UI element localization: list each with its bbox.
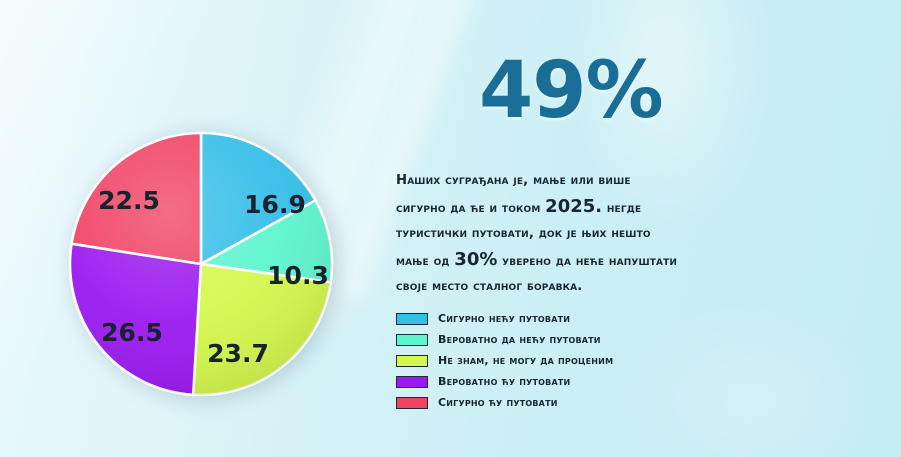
legend-label-initial: Н [438,354,447,367]
legend-item[interactable]: Сигурно нећу путовати [396,308,726,329]
legend-label-rest: е знам, не могу да проценим [447,354,613,367]
legend-item-label: Вероватно да нећу путовати [438,333,601,346]
paragraph-line3: туристички путовати, док је њих нешто [396,226,651,241]
pie-slice-value-label: 23.7 [207,339,269,368]
paragraph-year-highlight: 2025. [545,196,602,217]
pie-chart-svg: 16.910.323.726.522.5 [56,118,346,418]
legend-color-swatch [396,334,428,346]
legend-item[interactable]: Не знам, не могу да проценим [396,350,726,371]
paragraph-line1-initial: Н [396,173,407,188]
legend-item-label: Сигурно нећу путовати [438,312,570,325]
paragraph-line4a: мање од [396,254,454,269]
legend-color-swatch [396,376,428,388]
paragraph-percent-highlight: 30% [454,249,497,270]
legend-color-swatch [396,313,428,325]
pie-slice-value-label: 26.5 [101,318,163,347]
right-panel: 49% Наших суграђана је, мање или више си… [391,0,901,457]
description-paragraph: Наших суграђана је, мање или више сигурн… [396,168,726,300]
paragraph-line5: своје место сталног боравка. [396,279,582,294]
pie-slice-value-label: 16.9 [244,190,306,219]
pie-slice-value-label: 10.3 [267,261,329,290]
legend-item[interactable]: Вероватно да нећу путовати [396,329,726,350]
infographic-canvas: 16.910.323.726.522.5 49% Наших суграђана… [0,0,901,457]
paragraph-line2a: сигурно да ће и током [396,201,545,216]
legend-item-label: Не знам, не могу да проценим [438,354,613,367]
headline-percentage: 49% [479,52,663,130]
paragraph-line1: аших суграђана је, мање или више [407,173,630,188]
paragraph-line2b: негде [602,201,641,216]
legend-item-label: Сигурно ћу путовати [438,396,558,409]
legend-label-initial: В [438,375,447,388]
legend-label-rest: игурно нећу путовати [446,312,570,325]
legend-item[interactable]: Вероватно ћу путовати [396,371,726,392]
legend-label-initial: В [438,333,447,346]
legend-label-rest: ероватно ћу путовати [447,375,571,388]
legend-color-swatch [396,397,428,409]
legend-item-label: Вероватно ћу путовати [438,375,570,388]
pie-slice-value-label: 22.5 [98,186,160,215]
chart-legend: Сигурно нећу путоватиВероватно да нећу п… [396,308,726,413]
paragraph-line4b: уверено да неће напуштати [497,254,677,269]
legend-label-rest: ероватно да нећу путовати [447,333,601,346]
legend-label-rest: игурно ћу путовати [446,396,557,409]
legend-item[interactable]: Сигурно ћу путовати [396,392,726,413]
legend-color-swatch [396,355,428,367]
pie-chart: 16.910.323.726.522.5 [56,118,346,418]
